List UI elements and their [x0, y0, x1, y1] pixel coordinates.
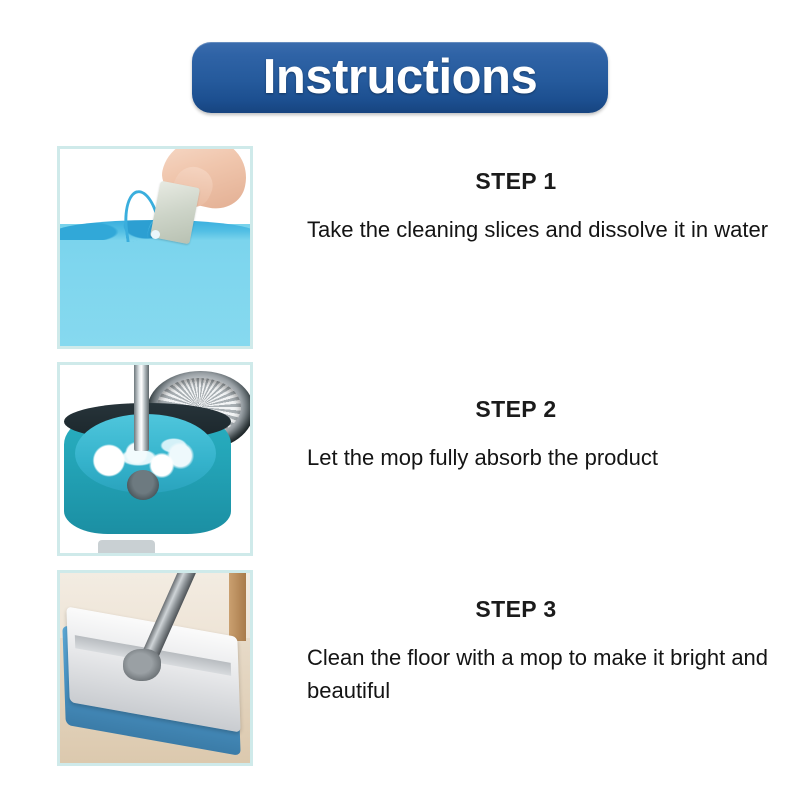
step-row-1: STEP 1 Take the cleaning slices and diss…: [0, 146, 800, 349]
furniture-leg: [229, 573, 246, 641]
step-1-copy: STEP 1 Take the cleaning slices and diss…: [307, 146, 777, 246]
step-1-body: Take the cleaning slices and dissolve it…: [307, 213, 777, 246]
flat-mop-floor-illustration: [60, 573, 250, 763]
step-3-image: [57, 570, 253, 766]
water-droplet: [151, 230, 160, 239]
water-body: [60, 224, 250, 346]
water-slice-illustration: [60, 149, 250, 346]
step-2-body: Let the mop fully absorb the product: [307, 441, 777, 474]
banner-container: Instructions: [0, 42, 800, 113]
step-row-3: STEP 3 Clean the floor with a mop to mak…: [0, 570, 800, 766]
mop-head: [127, 470, 159, 500]
bucket-foot: [98, 540, 155, 556]
step-2-image: [57, 362, 253, 556]
step-2-heading: STEP 2: [255, 396, 777, 423]
step-row-2: STEP 2 Let the mop fully absorb the prod…: [0, 362, 800, 556]
mop-swivel-joint: [123, 649, 161, 681]
spin-mop-bucket-illustration: [60, 365, 250, 553]
mop-pole: [134, 362, 149, 451]
step-1-image: [57, 146, 253, 349]
step-3-body: Clean the floor with a mop to make it br…: [307, 641, 777, 707]
step-3-copy: STEP 3 Clean the floor with a mop to mak…: [307, 570, 777, 707]
instructions-banner: Instructions: [192, 42, 608, 113]
step-3-heading: STEP 3: [255, 596, 777, 623]
step-2-copy: STEP 2 Let the mop fully absorb the prod…: [307, 362, 777, 474]
page-title: Instructions: [263, 53, 537, 102]
step-1-heading: STEP 1: [255, 168, 777, 195]
